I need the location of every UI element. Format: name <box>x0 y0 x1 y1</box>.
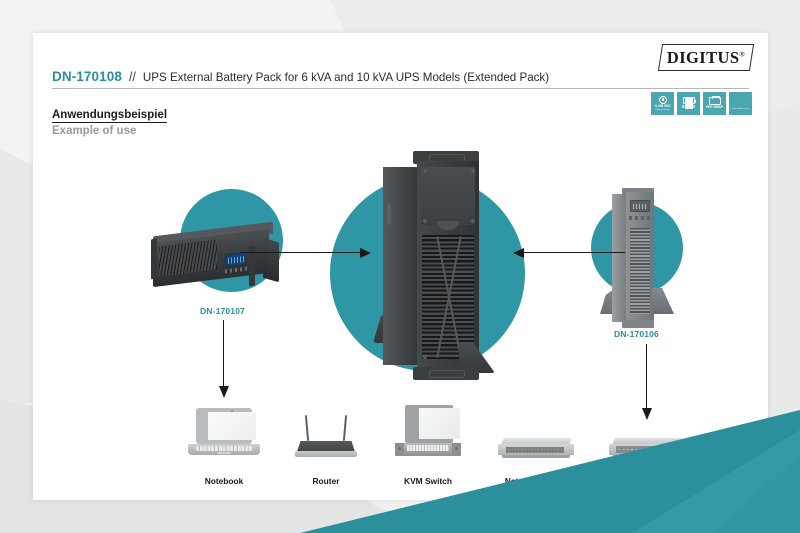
battery-pack-top-plate <box>421 167 475 225</box>
arrow-left-to-center <box>240 247 372 259</box>
battery-pack-bottom-bracket <box>413 367 479 380</box>
label-kvm-switch: KVM Switch <box>368 476 488 486</box>
arrow-right-to-center <box>513 247 625 259</box>
arrow-down-to-media-converter <box>641 344 653 422</box>
tower-ups-vents <box>630 228 650 314</box>
peripheral-kvm-switch <box>395 405 461 461</box>
usage-diagram: DN-170107 <box>33 33 768 500</box>
tower-ups-buttons <box>629 216 651 220</box>
content-card: DIGITUS® DN-170108 // UPS External Batte… <box>33 33 768 500</box>
device-external-battery-pack <box>373 151 515 383</box>
arrow-down-to-notebook <box>218 320 230 400</box>
peripheral-network-switch <box>498 438 574 460</box>
tower-ups-display <box>630 200 650 212</box>
label-dn-170107: DN-170107 <box>200 306 245 316</box>
label-dn-170106: DN-170106 <box>614 329 659 339</box>
peripheral-notebook <box>188 408 260 460</box>
screenshot-root: DIGITUS® DN-170108 // UPS External Batte… <box>0 0 800 533</box>
peripheral-router <box>295 415 357 460</box>
